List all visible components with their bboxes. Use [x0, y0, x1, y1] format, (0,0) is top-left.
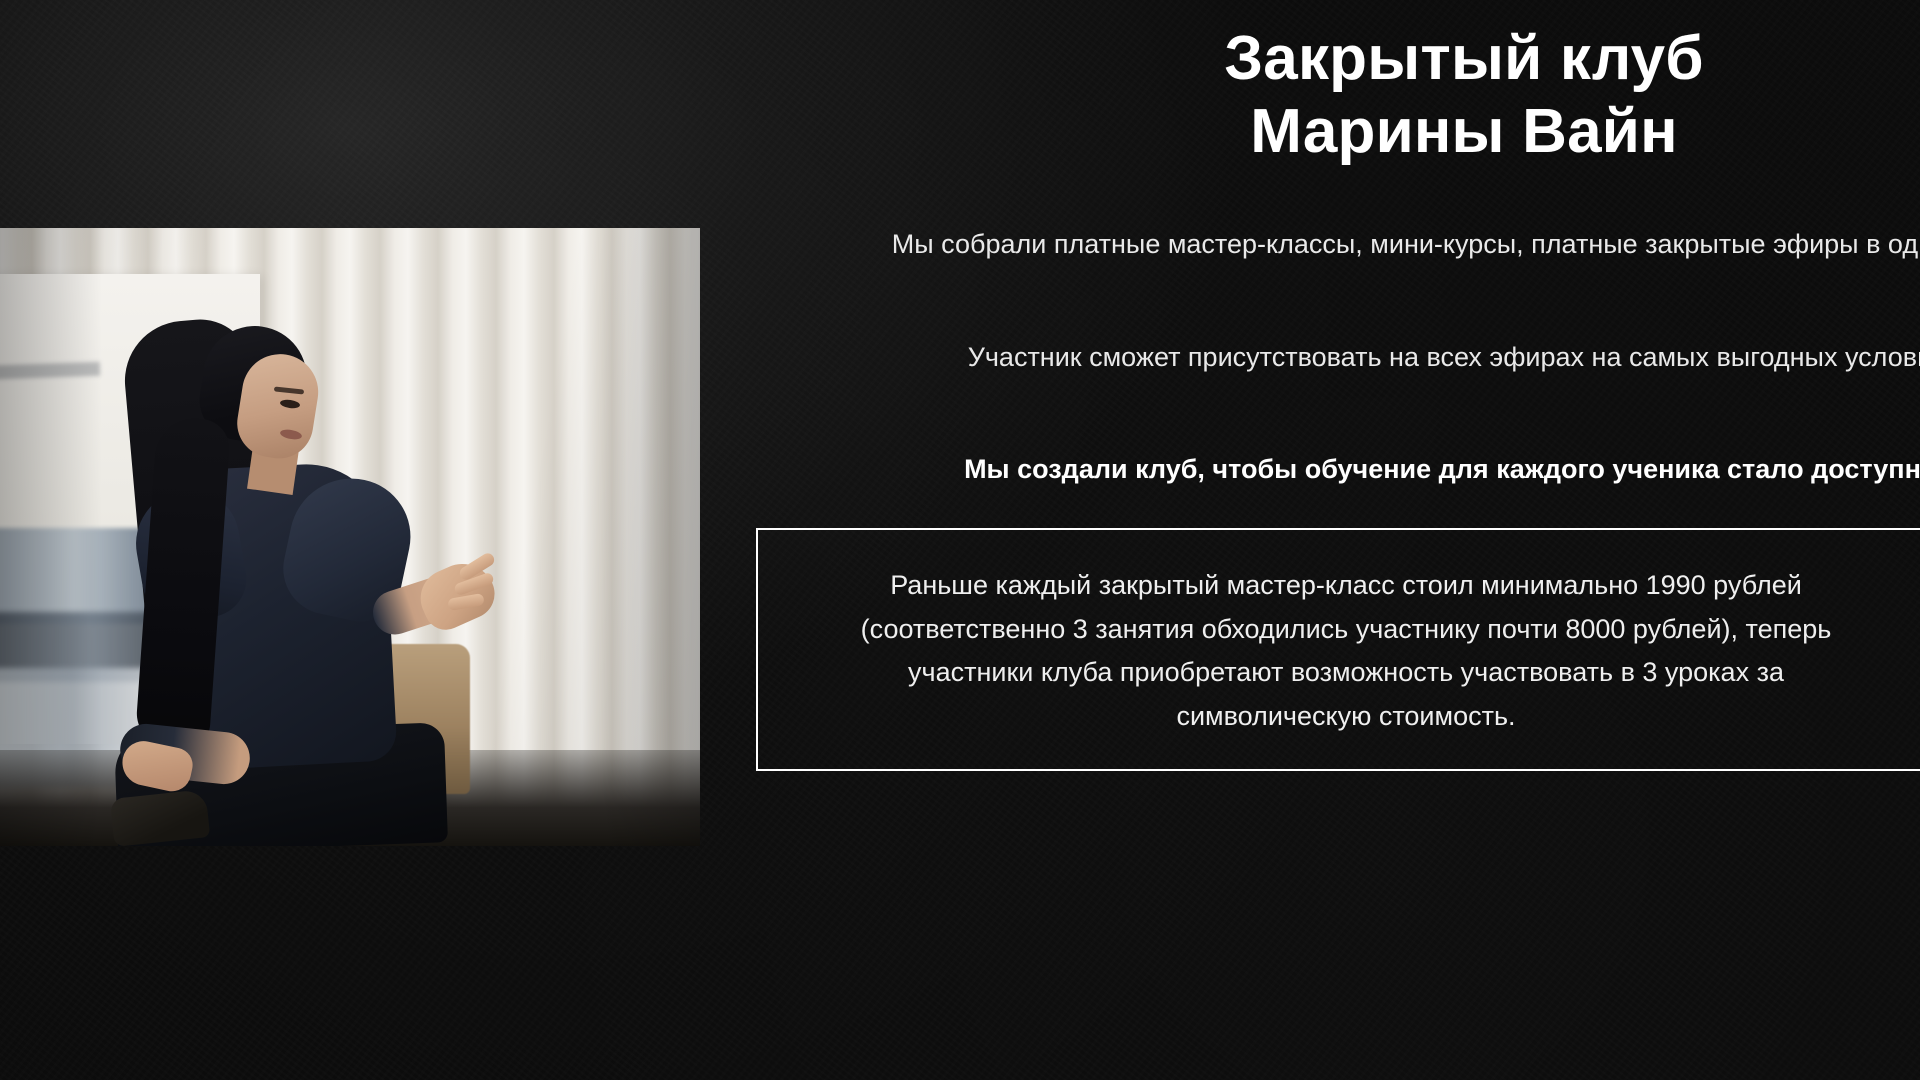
intro-paragraph: Мы собрали платные мастер-классы, мини-к…	[754, 224, 1920, 265]
page-title: Закрытый клуб Марины Вайн	[754, 8, 1920, 168]
mission-paragraph: Мы создали клуб, чтобы обучение для кажд…	[754, 449, 1920, 490]
shoe	[110, 789, 210, 846]
content-column: Закрытый клуб Марины Вайн Мы собрали пла…	[754, 0, 1920, 771]
landing-page: Закрытый клуб Марины Вайн Мы собрали пла…	[0, 0, 1920, 1080]
pricing-callout-text: Раньше каждый закрытый мастер-класс стои…	[814, 564, 1878, 739]
benefit-paragraph: Участник сможет присутствовать на всех э…	[754, 337, 1920, 378]
person-figure	[0, 228, 700, 846]
pricing-callout-box: Раньше каждый закрытый мастер-класс стои…	[756, 528, 1920, 771]
hero-photo	[0, 228, 700, 846]
